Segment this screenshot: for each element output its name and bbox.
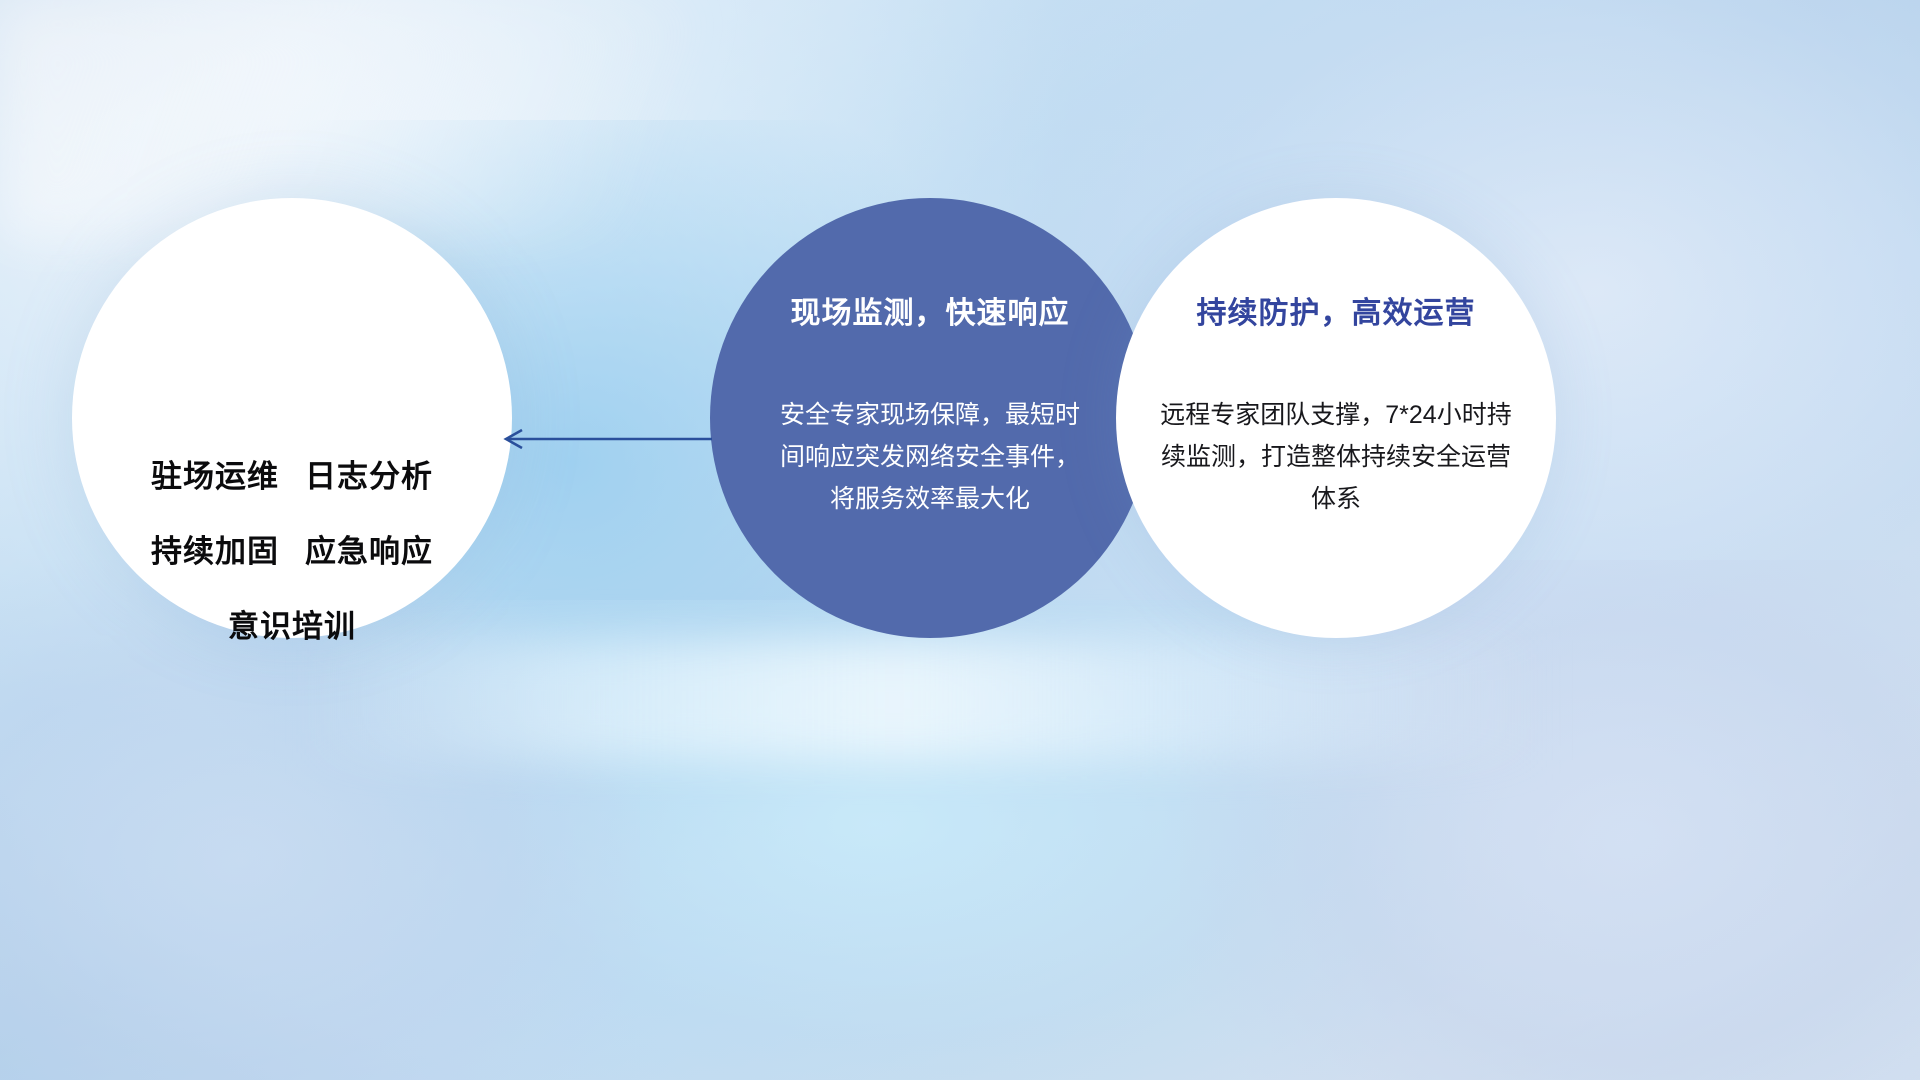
left-service-label-1a: 驻场运维: [151, 459, 279, 494]
slide-canvas: 驻场运维日志分析 持续加固应急响应 意识培训 现场监测，快速响应 安全专家现场保…: [0, 0, 1920, 1080]
left-service-label-2b: 应急响应: [305, 534, 433, 569]
center-card-title: 现场监测，快速响应: [791, 288, 1070, 332]
left-service-row-3: 意识培训: [228, 601, 356, 646]
left-service-label-3: 意识培训: [228, 609, 356, 644]
left-circle-content: 驻场运维日志分析 持续加固应急响应 意识培训: [72, 198, 512, 638]
center-circle-content: 现场监测，快速响应 安全专家现场保障，最短时间响应突发网络安全事件，将服务效率最…: [710, 198, 1150, 638]
center-card-body: 安全专家现场保障，最短时间响应突发网络安全事件，将服务效率最大化: [780, 394, 1080, 520]
left-service-label-2a: 持续加固: [151, 534, 279, 569]
right-circle-content: 持续防护，高效运营 远程专家团队支撑，7*24小时持续监测，打造整体持续安全运营…: [1116, 198, 1556, 638]
right-card-body: 远程专家团队支撑，7*24小时持续监测，打造整体持续安全运营体系: [1152, 394, 1520, 520]
left-service-label-1b: 日志分析: [305, 459, 433, 494]
left-service-row-1: 驻场运维日志分析: [151, 451, 433, 496]
arrow-left-icon: [492, 423, 714, 455]
left-service-row-2: 持续加固应急响应: [151, 526, 433, 571]
right-card-title: 持续防护，高效运营: [1197, 288, 1476, 332]
